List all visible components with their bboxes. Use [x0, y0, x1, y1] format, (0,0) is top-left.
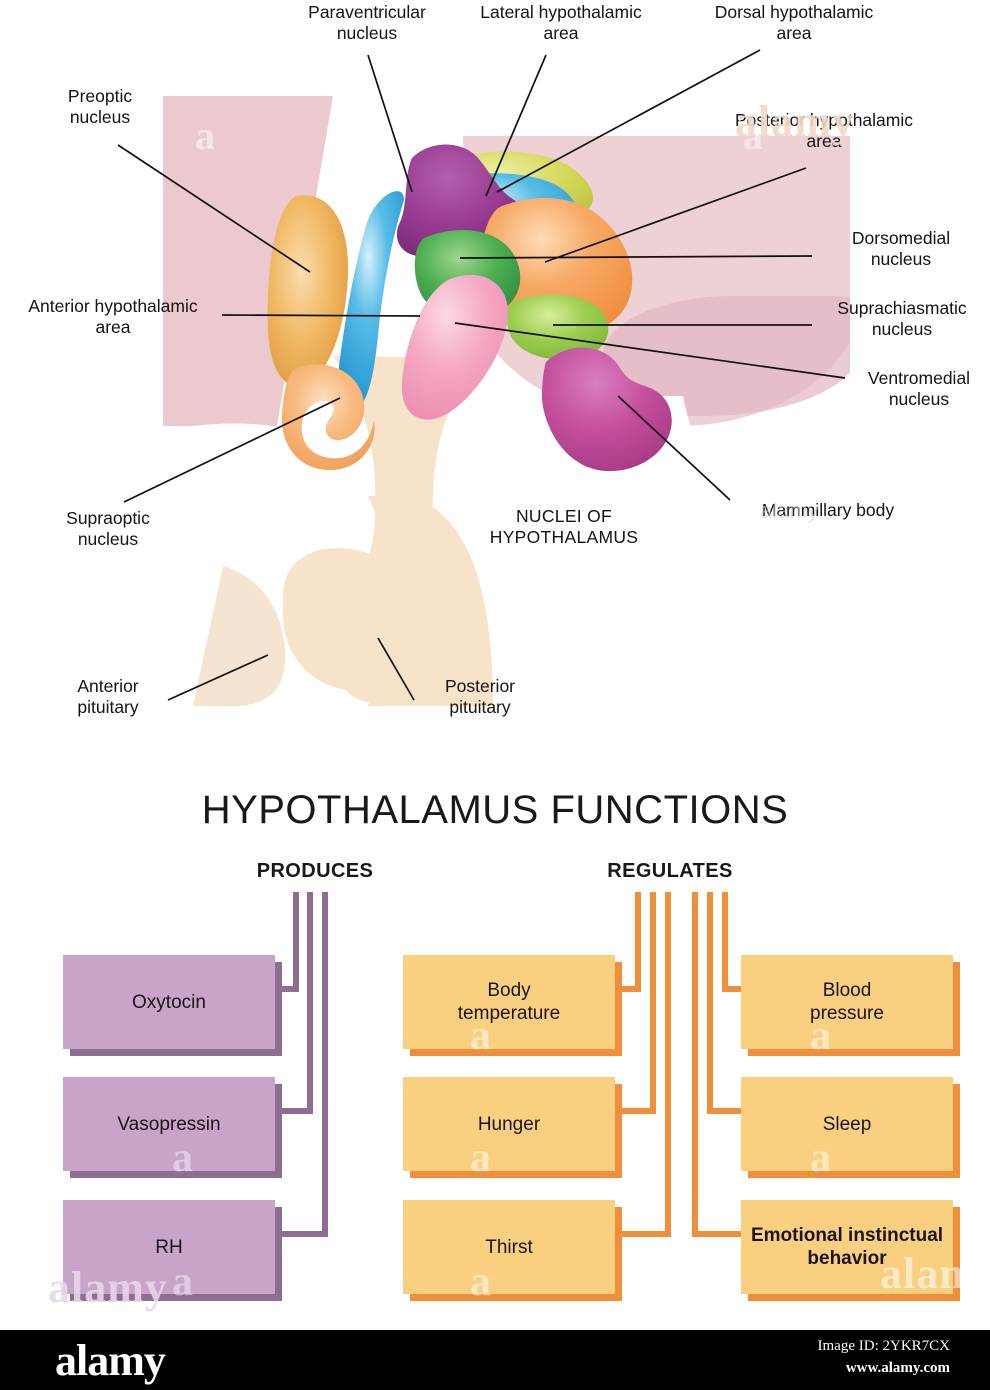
- label-line: area: [2, 317, 224, 338]
- connector-regulates-left-1-vertical: [635, 892, 641, 992]
- label-line: area: [700, 131, 948, 152]
- function-box-rh[interactable]: RH: [63, 1200, 275, 1294]
- label-dorsal-hypothalamic-area: Dorsal hypothalamic area: [688, 2, 900, 44]
- leader-anterior-pituitary: [168, 655, 268, 700]
- connector-regulates-left-3-vertical: [665, 892, 671, 1237]
- label-posterior-pituitary: Posterior pituitary: [410, 676, 550, 718]
- alamy-footer-bar: alamy Image ID: 2YKR7CX www.alamy.com: [0, 1330, 990, 1390]
- label-line: nucleus: [812, 249, 990, 270]
- watermark-text: alamy: [760, 498, 819, 524]
- leader-anterior-area: [222, 315, 420, 316]
- label-suprachiasmatic-nucleus: Suprachiasmatic nucleus: [812, 298, 990, 340]
- label-anterior-hypothalamic-area: Anterior hypothalamic area: [2, 296, 224, 338]
- function-box-vasopressin[interactable]: Vasopressin: [63, 1077, 275, 1171]
- box-label: Emotional instinctual behavior: [751, 1224, 943, 1270]
- produces-heading: PRODUCES: [220, 860, 410, 883]
- leader-posterior-pituitary: [378, 638, 414, 700]
- hypothalamus-anatomy-figure: a a a a a a: [0, 0, 990, 760]
- hypothalamus-functions-section: HYPOTHALAMUS FUNCTIONS PRODUCES REGULATE…: [0, 760, 990, 1330]
- label-line: Paraventricular: [262, 2, 472, 23]
- label-line: Supraoptic: [18, 508, 198, 529]
- caption-line: NUCLEI OF: [470, 506, 658, 527]
- box-label: Vasopressin: [117, 1113, 220, 1136]
- label-line: Preoptic: [10, 86, 190, 107]
- connector-produces-2-vertical: [307, 892, 313, 1114]
- label-line: Dorsal hypothalamic: [688, 2, 900, 23]
- label-paraventricular-nucleus: Paraventricular nucleus: [262, 2, 472, 44]
- label-supraoptic-nucleus: Supraoptic nucleus: [18, 508, 198, 550]
- box-label-line: behavior: [807, 1248, 886, 1269]
- label-line: Lateral hypothalamic: [462, 2, 660, 23]
- label-line: nucleus: [10, 107, 190, 128]
- label-mammillary-body: Mammillary body: [728, 500, 928, 521]
- function-box-sleep[interactable]: Sleep: [741, 1077, 953, 1171]
- label-line: nucleus: [848, 389, 990, 410]
- label-ventromedial-nucleus: Ventromedial nucleus: [848, 368, 990, 410]
- box-label: Hunger: [478, 1113, 540, 1136]
- alamy-logo: alamy: [55, 1335, 165, 1386]
- functions-title: HYPOTHALAMUS FUNCTIONS: [0, 788, 990, 833]
- leader-posterior: [545, 168, 806, 262]
- label-line: nucleus: [812, 319, 990, 340]
- function-box-thirst[interactable]: Thirst: [403, 1200, 615, 1294]
- label-line: pituitary: [410, 697, 550, 718]
- leader-lateral: [486, 55, 546, 196]
- label-preoptic-nucleus: Preoptic nucleus: [10, 86, 190, 128]
- connector-regulates-right-1-vertical: [722, 892, 728, 992]
- connector-regulates-right-3-vertical: [692, 892, 698, 1237]
- label-line: Ventromedial: [848, 368, 990, 389]
- figure-caption: NUCLEI OF HYPOTHALAMUS: [470, 506, 658, 548]
- box-label: Thirst: [485, 1236, 533, 1259]
- regulates-heading: REGULATES: [575, 860, 765, 883]
- label-line: Anterior hypothalamic: [2, 296, 224, 317]
- box-label: Sleep: [823, 1113, 872, 1136]
- connector-produces-3-vertical: [322, 892, 328, 1237]
- leader-preoptic: [118, 145, 310, 272]
- function-box-oxytocin[interactable]: Oxytocin: [63, 955, 275, 1049]
- label-dorsomedial-nucleus: Dorsomedial nucleus: [812, 228, 990, 270]
- box-label: Body temperature: [458, 979, 560, 1025]
- label-line: Posterior: [410, 676, 550, 697]
- leader-mammillary: [618, 396, 730, 500]
- function-box-body-temperature[interactable]: Body temperature: [403, 955, 615, 1049]
- label-line: area: [462, 23, 660, 44]
- leader-ventromedial: [455, 323, 845, 378]
- leader-dorsomedial: [460, 256, 812, 258]
- connector-regulates-right-2-vertical: [707, 892, 713, 1114]
- label-lateral-hypothalamic-area: Lateral hypothalamic area: [462, 2, 660, 44]
- label-line: Dorsomedial: [812, 228, 990, 249]
- box-label-line: Blood: [823, 980, 872, 1001]
- caption-line: HYPOTHALAMUS: [470, 527, 658, 548]
- function-box-hunger[interactable]: Hunger: [403, 1077, 615, 1171]
- image-id: Image ID: 2YKR7CX: [818, 1338, 950, 1355]
- connector-produces-1-vertical: [293, 892, 299, 992]
- box-label-line: pressure: [810, 1003, 884, 1024]
- label-line: pituitary: [38, 697, 178, 718]
- label-line: area: [688, 23, 900, 44]
- label-line: nucleus: [18, 529, 198, 550]
- function-box-emotional-behavior[interactable]: Emotional instinctual behavior: [741, 1200, 953, 1294]
- leader-supraoptic: [124, 398, 340, 502]
- box-label: Oxytocin: [132, 991, 206, 1014]
- box-label: Blood pressure: [810, 979, 884, 1025]
- label-line: Mammillary body: [728, 500, 928, 521]
- box-label-line: temperature: [458, 1003, 560, 1024]
- function-box-blood-pressure[interactable]: Blood pressure: [741, 955, 953, 1049]
- leader-paraventricular: [368, 55, 412, 192]
- connector-regulates-left-2-vertical: [650, 892, 656, 1114]
- box-label-line: Emotional instinctual: [751, 1225, 943, 1246]
- label-line: Posterior hypothalamic: [700, 110, 948, 131]
- label-posterior-hypothalamic-area: Posterior hypothalamic area: [700, 110, 948, 152]
- label-line: nucleus: [262, 23, 472, 44]
- label-line: Anterior: [38, 676, 178, 697]
- label-line: Suprachiasmatic: [812, 298, 990, 319]
- box-label-line: Body: [487, 980, 530, 1001]
- label-anterior-pituitary: Anterior pituitary: [38, 676, 178, 718]
- alamy-url: www.alamy.com: [846, 1360, 950, 1377]
- box-label: RH: [155, 1236, 182, 1259]
